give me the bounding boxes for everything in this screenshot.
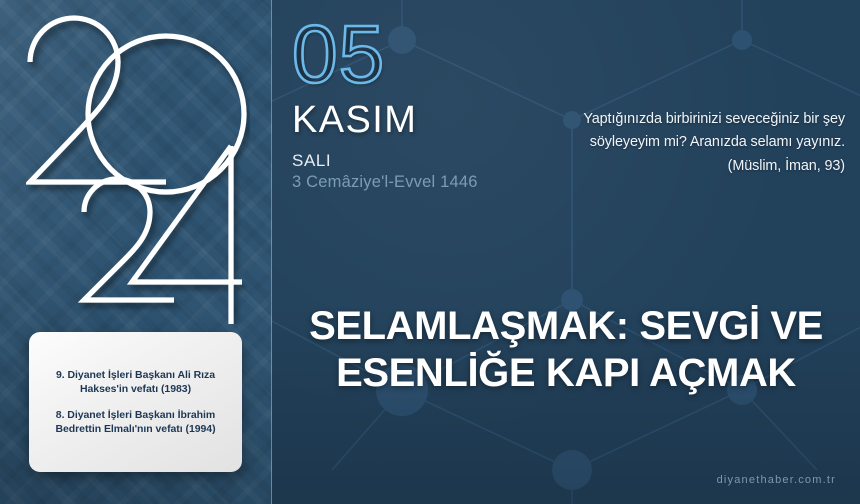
calendar-poster: 9. Diyanet İşleri Başkanı Ali Rıza Hakse… xyxy=(0,0,860,504)
headline-title: SELAMLAŞMAK: SEVGİ VE ESENLİĞE KAPI AÇMA… xyxy=(290,303,842,397)
historic-notes-card: 9. Diyanet İşleri Başkanı Ali Rıza Hakse… xyxy=(29,332,242,472)
month-name: KASIM xyxy=(292,101,552,139)
day-number: 05 xyxy=(292,16,552,95)
right-panel: 05 KASIM SALI 3 Cemâziye'l-Evvel 1446 Ya… xyxy=(272,0,860,504)
weekday-name: SALI xyxy=(292,152,552,170)
hadith-quote: Yaptığınızda birbirinizi seveceğiniz bir… xyxy=(545,108,845,178)
note-item-2: 8. Diyanet İşleri Başkanı İbrahim Bedret… xyxy=(40,408,231,436)
site-watermark: diyanethaber.com.tr xyxy=(717,474,836,486)
note-item-1: 9. Diyanet İşleri Başkanı Ali Rıza Hakse… xyxy=(40,368,231,396)
hijri-date: 3 Cemâziye'l-Evvel 1446 xyxy=(292,173,552,191)
left-panel: 9. Diyanet İşleri Başkanı Ali Rıza Hakse… xyxy=(0,0,272,504)
year-2024-monogram xyxy=(26,14,250,324)
date-block: 05 KASIM SALI 3 Cemâziye'l-Evvel 1446 xyxy=(292,16,552,191)
